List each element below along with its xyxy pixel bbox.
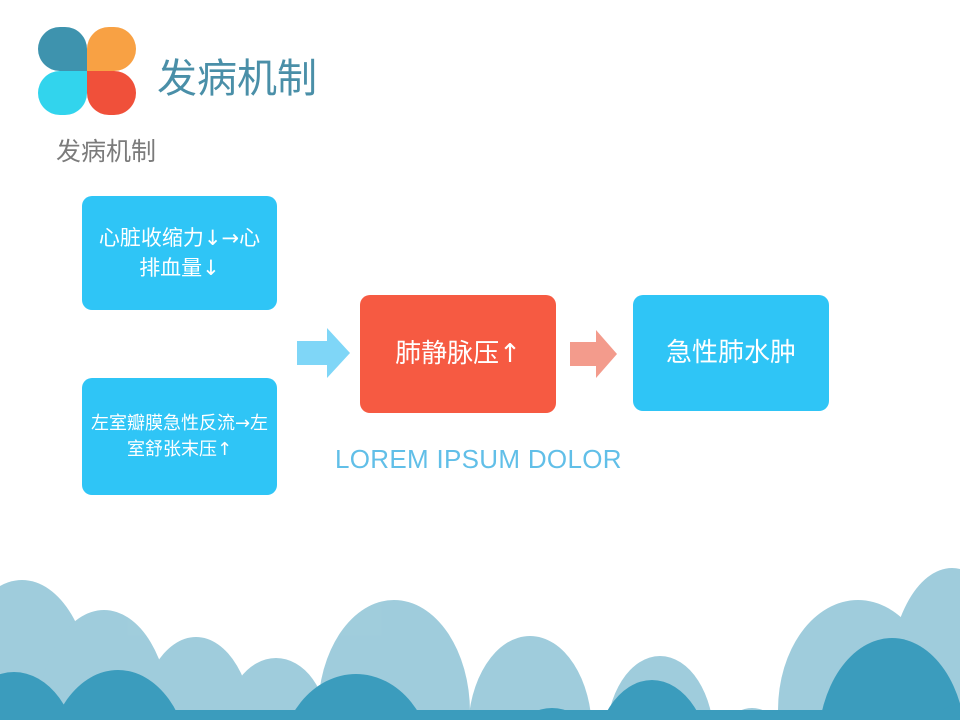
logo-petal-top-left-icon [38,27,87,71]
logo-petal-top-right-icon [87,27,136,71]
diagram-node-cardiac-contractility: 心脏收缩力↓→心排血量↓ [82,196,277,310]
diagram-node-pulmonary-venous-pressure: 肺静脉压↑ [360,295,556,413]
arrow-right-icon-left-to-center [297,327,351,384]
logo-petal-bottom-left-icon [38,71,87,115]
diagram-node-acute-pulmonary-edema-label: 急性肺水肿 [666,336,796,370]
diagram-caption: LOREM IPSUM DOLOR [335,442,622,476]
diagram-node-cardiac-contractility-label: 心脏收缩力↓→心排血量↓ [90,223,269,283]
diagram-node-acute-pulmonary-edema: 急性肺水肿 [633,295,829,411]
diagram-node-valve-regurgitation: 左室瓣膜急性反流→左室舒张末压↑ [82,378,277,495]
diagram-node-pulmonary-venous-pressure-label: 肺静脉压↑ [395,337,521,371]
diagram-node-valve-regurgitation-label: 左室瓣膜急性反流→左室舒张末压↑ [90,411,269,463]
slide-canvas: 发病机制 发病机制 心脏收缩力↓→心排血量↓ 左室瓣膜急性反流→左室舒张末压↑ … [0,0,960,720]
four-petal-flower-logo [38,27,136,115]
logo-petal-bottom-right-icon [87,71,136,115]
slide-title: 发病机制 [157,53,317,105]
decor-baseline [0,710,960,720]
arrow-right-icon-center-to-right [570,329,618,384]
slide-subtitle: 发病机制 [56,135,156,169]
cloud-bubbles-footer-decoration [0,520,960,720]
